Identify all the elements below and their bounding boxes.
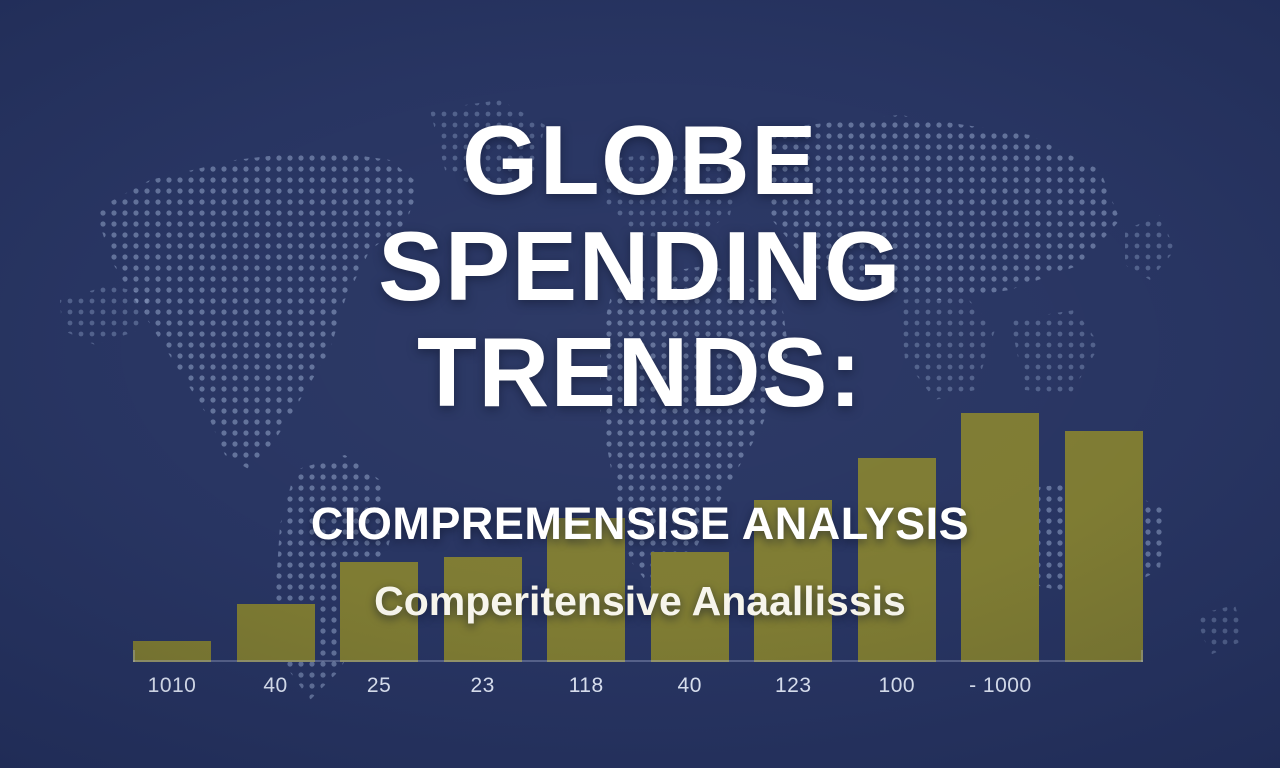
x-axis-tick-label: 25 xyxy=(340,674,418,698)
poster-canvas: 1010 40 25 23 118 40 123 100 - 1000 GLOB… xyxy=(0,0,1280,768)
bar-item xyxy=(858,458,936,662)
x-axis-line xyxy=(133,660,1143,662)
x-axis-tick-label: 40 xyxy=(651,674,729,698)
poster-headline: GLOBE SPENDING TRENDS: xyxy=(0,112,1280,420)
x-axis-tick-label: 118 xyxy=(547,674,625,698)
title-line-3: TRENDS: xyxy=(0,324,1280,420)
title-line-1: GLOBE xyxy=(0,112,1280,208)
x-axis-tick-start xyxy=(133,650,135,662)
bar-item xyxy=(133,641,211,662)
x-axis-labels: 1010 40 25 23 118 40 123 100 - 1000 xyxy=(133,668,1143,704)
subtitle-upper: CIOMPREMENSISE ANALYSIS xyxy=(0,498,1280,550)
x-axis-tick-label: - 1000 xyxy=(961,674,1039,698)
x-axis-tick-end xyxy=(1141,650,1143,662)
x-axis-tick-label: 40 xyxy=(237,674,315,698)
x-axis-tick-label: 100 xyxy=(858,674,936,698)
title-line-2: SPENDING xyxy=(0,218,1280,314)
x-axis-tick-label: 1010 xyxy=(133,674,211,698)
x-axis-tick-label: 23 xyxy=(444,674,522,698)
subtitle-lower: Comperitensive Anaallissis xyxy=(0,578,1280,625)
x-axis-tick-label: 123 xyxy=(754,674,832,698)
